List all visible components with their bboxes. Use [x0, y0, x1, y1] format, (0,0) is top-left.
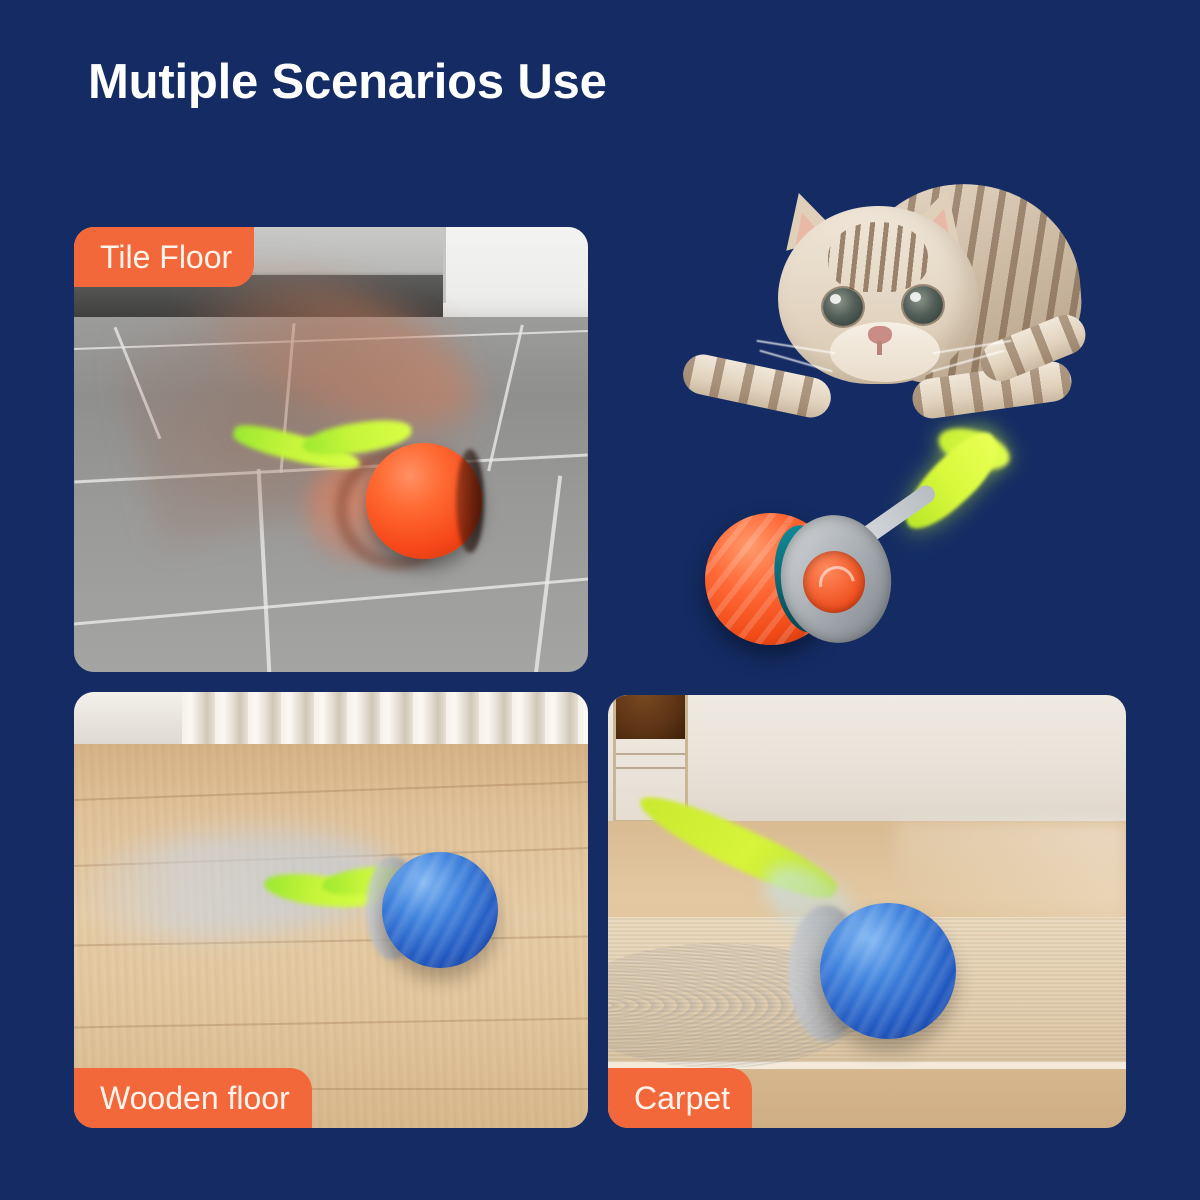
- scene-card-wooden-floor[interactable]: Wooden floor: [74, 692, 588, 1128]
- hero-illustration: [660, 170, 1120, 650]
- ball-ridges: [382, 852, 498, 968]
- wall: [74, 692, 186, 748]
- scene-card-carpet[interactable]: Carpet: [608, 695, 1126, 1128]
- badge-wooden-floor[interactable]: Wooden floor: [74, 1068, 312, 1128]
- badge-tile-floor[interactable]: Tile Floor: [74, 227, 254, 287]
- photo-wooden-floor: [74, 692, 588, 1128]
- ball-ridges: [820, 903, 956, 1039]
- ball-blue: [382, 852, 498, 968]
- picture-line: [616, 767, 685, 769]
- power-button-swirl-icon[interactable]: [803, 551, 865, 613]
- photo-tile-floor: [74, 227, 588, 672]
- badge-label: Carpet: [634, 1082, 730, 1114]
- marketing-graphic: Mutiple Scenarios Use: [0, 0, 1200, 1200]
- ball-blue: [820, 903, 956, 1039]
- badge-label: Wooden floor: [100, 1082, 290, 1114]
- cat: [660, 170, 1120, 470]
- ball-orange: [366, 443, 482, 559]
- cat-eye-right: [903, 286, 943, 324]
- badge-label: Tile Floor: [100, 241, 232, 273]
- product-ball-toy: [705, 465, 965, 655]
- picture-art: [616, 695, 685, 739]
- badge-carpet[interactable]: Carpet: [608, 1068, 752, 1128]
- cat-forehead-stripes: [828, 222, 928, 292]
- page-title: Mutiple Scenarios Use: [88, 57, 607, 108]
- photo-carpet: [608, 695, 1126, 1128]
- picture-line: [616, 753, 685, 755]
- scene-card-tile-floor[interactable]: Tile Floor: [74, 227, 588, 672]
- cat-nose: [868, 326, 892, 344]
- cat-eye-left: [823, 288, 863, 326]
